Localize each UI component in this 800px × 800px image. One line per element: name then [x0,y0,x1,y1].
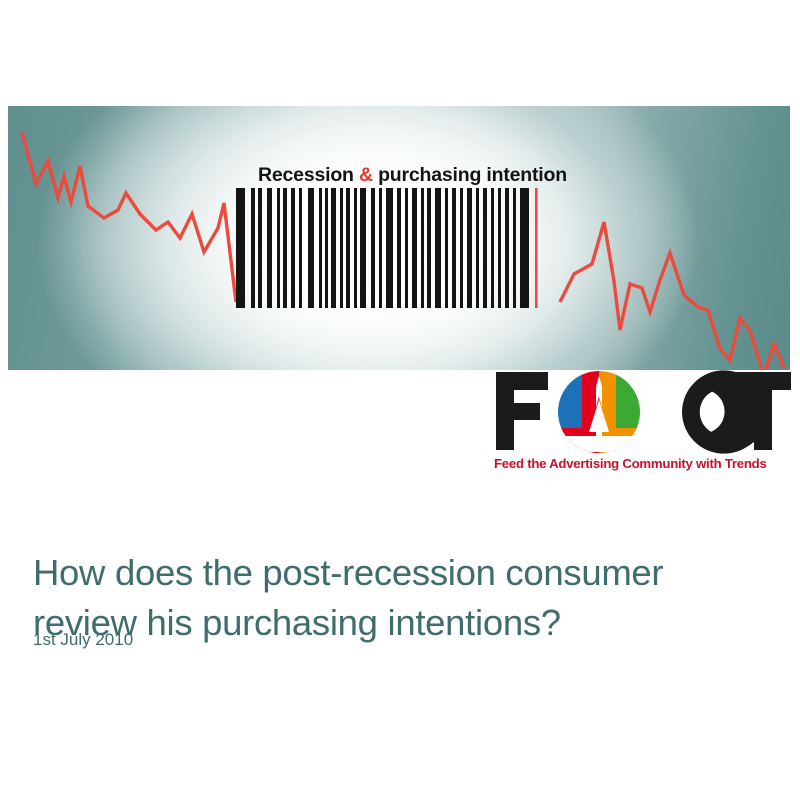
barcode-bar [360,188,366,308]
trend-line-right-path [560,222,784,370]
barcode-bar [331,188,336,308]
barcode-bar [491,188,494,308]
barcode-bar [325,188,328,308]
barcode-bar [299,188,302,308]
barcode-label-prefix: Recession [258,164,359,186]
barcode-bar [236,188,245,308]
fact-logo-tagline: Feed the Advertising Community with Tren… [494,456,792,471]
page-title-line-1: How does the post-recession consumer [33,548,753,598]
page-title-line-2: review his purchasing intentions? [33,598,753,648]
barcode-bar [498,188,501,308]
barcode-bar [371,188,375,308]
barcode-bar [319,188,322,308]
logo-a-gap [558,436,642,442]
barcode-bars-graphic [236,188,556,308]
logo-letter-f [496,372,548,450]
barcode-bar [397,188,401,308]
title-slide: Recession & purchasing intention [0,0,800,800]
fact-logo-mark [492,370,792,454]
fact-logo: Feed the Advertising Community with Tren… [492,370,792,478]
barcode-bar [452,188,456,308]
barcode-bar [346,188,350,308]
barcode-bar [379,188,382,308]
trend-line-left-path [22,132,236,302]
barcode-bar [520,188,529,308]
barcode-bar [354,188,357,308]
barcode-bar [405,188,408,308]
barcode-graphic: Recession & purchasing intention [236,160,556,308]
page-title: How does the post-recession consumer rev… [33,548,753,648]
presentation-date: 1st July 2010 [33,630,133,650]
barcode-bar [258,188,262,308]
barcode-bar [277,188,280,308]
barcode-bar [435,188,441,308]
logo-letter-a-colorwheel [558,371,642,454]
barcode-bar [483,188,487,308]
barcode-label-text: Recession & purchasing intention [258,160,540,190]
barcode-bar [283,188,287,308]
barcode-label-suffix: purchasing intention [373,164,567,186]
barcode-bar [291,188,295,308]
barcode-bar [513,188,516,308]
barcode-bar [467,188,472,308]
barcode-bar [460,188,463,308]
barcode-bar [386,188,393,308]
barcode-bar [505,188,509,308]
barcode-bar [445,188,448,308]
barcode-bar [267,188,272,308]
barcode-edge-rule [535,188,538,308]
header-banner-image: Recession & purchasing intention [8,106,790,370]
barcode-bar [421,188,424,308]
barcode-label-ampersand: & [359,164,373,186]
barcode-bar [427,188,431,308]
barcode-bar [412,188,417,308]
barcode-bar [340,188,343,308]
barcode-bar [251,188,255,308]
barcode-bar [308,188,314,308]
barcode-bar [476,188,479,308]
